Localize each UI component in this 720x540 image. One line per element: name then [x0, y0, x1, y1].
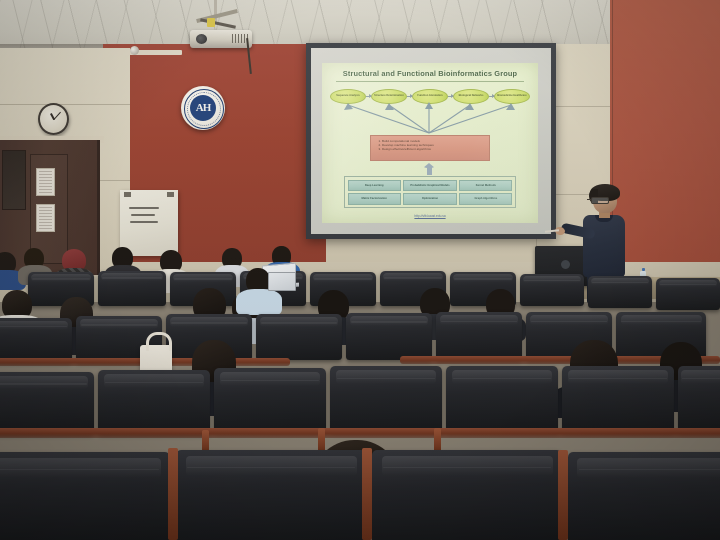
- seat-armpost: [202, 430, 209, 452]
- slide-method-box: Optimization: [403, 193, 456, 204]
- auditorium-seat[interactable]: [0, 372, 94, 434]
- slide-ellipse: Function Annotation: [412, 89, 448, 104]
- slide-title: Structural and Functional Bioinformatics…: [322, 69, 538, 78]
- seal-monogram-text: AH: [196, 103, 211, 114]
- handbag-handle: [146, 332, 172, 351]
- handwriting-stroke: [130, 221, 158, 223]
- arrow-shaft: [427, 167, 432, 175]
- arrow-icon: [366, 96, 371, 97]
- glasses-icon: [591, 197, 609, 204]
- up-arrow-icon: [423, 163, 436, 175]
- presenter-torso: [583, 215, 625, 277]
- auditorium-seat[interactable]: [372, 450, 562, 540]
- wall-fixture-bar: [110, 50, 182, 55]
- seal-monogram: AH: [190, 95, 216, 121]
- arrow-icon: [448, 96, 453, 97]
- seat-armpost: [558, 450, 568, 540]
- seat-armpost: [362, 448, 372, 540]
- handwriting-stroke: [131, 214, 155, 216]
- projector-lens-icon: [196, 34, 207, 44]
- auditorium-seat[interactable]: [656, 278, 720, 310]
- motion-sensor-icon: [130, 46, 139, 55]
- presentation-slide: Structural and Functional Bioinformatics…: [322, 63, 538, 223]
- auditorium-seat[interactable]: [446, 366, 558, 432]
- slide-method-box: Deep Learning: [348, 180, 401, 191]
- seat-armrail: [0, 428, 720, 438]
- audience-tablet: [268, 272, 296, 291]
- auditorium-seat[interactable]: [98, 271, 166, 306]
- monitor-logo: [561, 260, 570, 269]
- slide-ellipse-row: Sequence Analysis Structure Determinatio…: [330, 87, 530, 105]
- auditorium-seat[interactable]: [0, 318, 72, 362]
- slide-ellipse: Structure Determination: [371, 89, 407, 104]
- ceiling-projector-icon: [190, 30, 252, 48]
- auditorium-seat[interactable]: [176, 450, 366, 540]
- auditorium-seat[interactable]: [214, 368, 326, 432]
- slide-ellipse: Sequence Analysis: [330, 89, 366, 104]
- flipchart-clip: [124, 192, 131, 197]
- auditorium-seat[interactable]: [346, 313, 432, 360]
- auditorium-seat[interactable]: [256, 314, 342, 360]
- flipchart-clip: [167, 192, 174, 197]
- analog-wall-clock-icon: [38, 103, 69, 135]
- door-notice-upper: [36, 168, 55, 196]
- slide-goals-box: Build computational models Develop machi…: [370, 135, 490, 161]
- auditorium-seat[interactable]: [562, 366, 674, 432]
- slide-method-box: Graph Algorithms: [459, 193, 512, 204]
- slide-methods-grid: Deep Learning Probabilistic Graphical Mo…: [344, 176, 516, 208]
- seat-armpost: [318, 428, 325, 452]
- arrow-icon: [407, 96, 412, 97]
- whiteboard-flipchart: [120, 190, 178, 256]
- projector-cable-tag: [207, 18, 215, 27]
- auditorium-seat[interactable]: [568, 452, 720, 540]
- handwriting-stroke: [129, 207, 159, 209]
- auditorium-seat[interactable]: [98, 370, 210, 434]
- university-seal-logo: AH: [181, 86, 225, 130]
- auditorium-seat[interactable]: [678, 366, 720, 432]
- seat-armpost: [168, 448, 178, 540]
- lecture-hall-photo: AH Structural and Functional Bioinformat…: [0, 0, 720, 540]
- slide-goal-item: Design effective/efficient algorithms: [382, 147, 485, 151]
- auditorium-seat[interactable]: [436, 312, 522, 360]
- seat-armpost: [434, 428, 441, 452]
- slide-url-link[interactable]: http://sfb.kaust.edu.sa: [322, 214, 538, 218]
- slide-method-box: Matrix Factorization: [348, 193, 401, 204]
- slide-ellipse: Biomedicine Healthcare: [494, 89, 530, 104]
- auditorium-seat[interactable]: [520, 274, 584, 306]
- wall-seam: [0, 104, 130, 105]
- slide-method-box: Kernel Methods: [459, 180, 512, 191]
- slide-method-box: Probabilistic Graphical Models: [403, 180, 456, 191]
- auditorium-seat[interactable]: [588, 276, 652, 308]
- door-side-glass: [2, 150, 26, 210]
- arrow-icon: [489, 96, 494, 97]
- door-notice-lower: [36, 204, 55, 232]
- clock-center: [53, 118, 55, 120]
- person-shoulders: [236, 289, 282, 315]
- slide-title-rule: [336, 81, 524, 82]
- auditorium-seat[interactable]: [0, 452, 170, 540]
- slide-ellipse: Biological Networks: [453, 89, 489, 104]
- auditorium-seat[interactable]: [330, 366, 442, 432]
